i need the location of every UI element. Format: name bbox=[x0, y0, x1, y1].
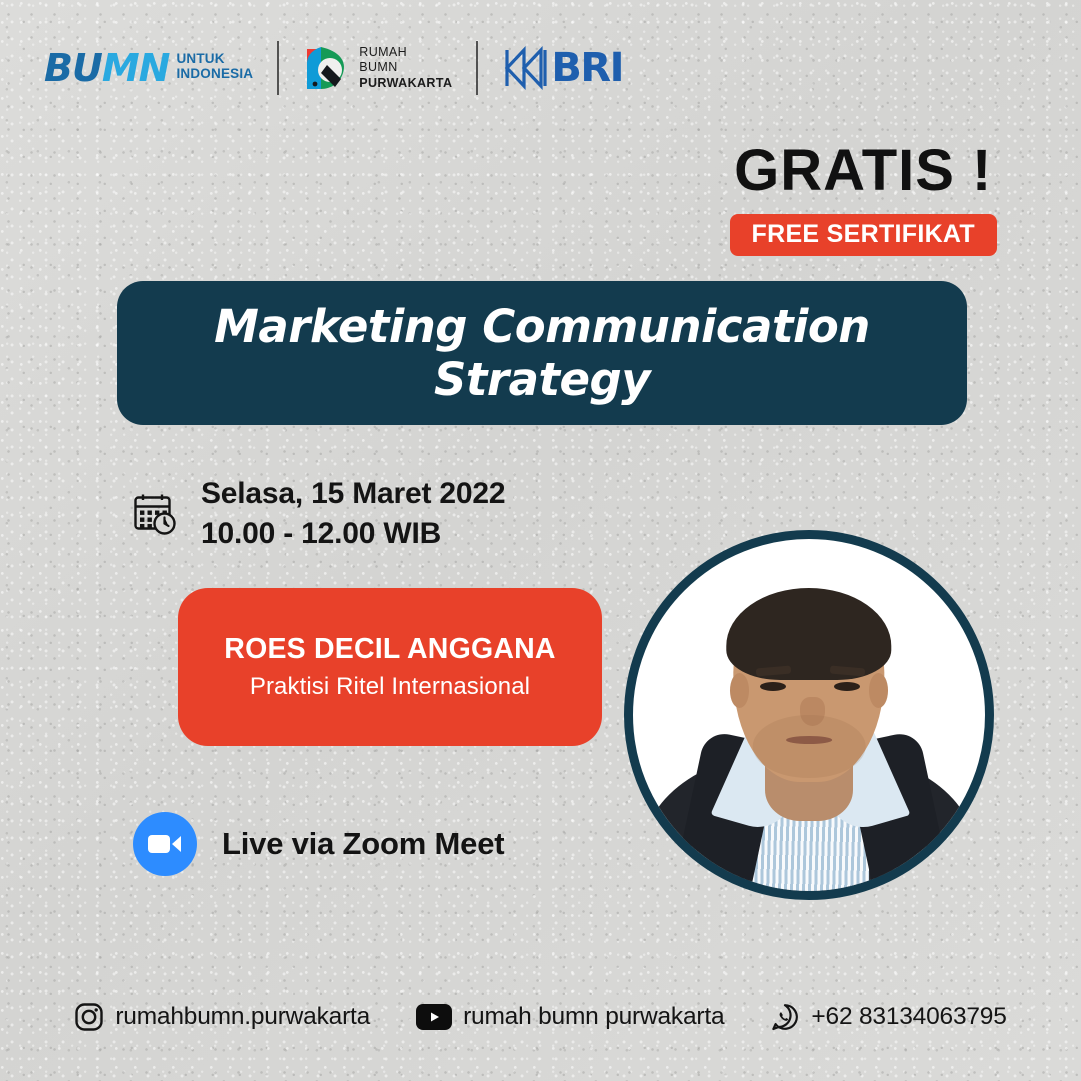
speaker-photo bbox=[624, 530, 994, 900]
schedule-row: Selasa, 15 Maret 2022 10.00 - 12.00 WIB bbox=[131, 474, 505, 553]
zoom-video-icon bbox=[133, 812, 197, 876]
rumah-bumn-text: RUMAH BUMN PURWAKARTA bbox=[359, 45, 452, 91]
event-poster: BUMN UNTUK INDONESIA RUMAH BUMN PURWAKAR… bbox=[0, 0, 1081, 1081]
partner-logo-bar: BUMN UNTUK INDONESIA RUMAH BUMN PURWAKAR… bbox=[44, 38, 623, 98]
calendar-clock-icon bbox=[131, 490, 179, 538]
bumn-untuk-indonesia-logo: BUMN UNTUK INDONESIA bbox=[44, 49, 253, 88]
bri-logo: BRI bbox=[502, 46, 623, 90]
instagram-icon bbox=[74, 1002, 104, 1032]
footer-youtube[interactable]: rumah bumn purwakarta bbox=[416, 1003, 724, 1031]
free-promo-block: GRATIS ! FREE SERTIFIKAT bbox=[730, 142, 997, 256]
event-title-banner: Marketing Communication Strategy bbox=[117, 281, 967, 425]
bumn-tagline: UNTUK INDONESIA bbox=[176, 52, 253, 83]
portrait-illustration bbox=[633, 539, 985, 891]
bumn-wordmark-part1: BU bbox=[44, 46, 102, 90]
logo-divider-2 bbox=[476, 41, 478, 95]
whatsapp-icon bbox=[770, 1002, 800, 1032]
portrait-ear-left bbox=[730, 673, 749, 708]
rumah-bumn-mark-icon bbox=[303, 43, 349, 93]
speaker-name: ROES DECIL ANGGANA bbox=[224, 632, 555, 666]
free-certificate-badge: FREE SERTIFIKAT bbox=[730, 214, 997, 256]
instagram-handle: rumahbumn.purwakarta bbox=[115, 1003, 370, 1031]
gratis-heading: GRATIS ! bbox=[730, 142, 997, 200]
youtube-handle: rumah bumn purwakarta bbox=[463, 1003, 724, 1031]
portrait-mouth bbox=[786, 736, 832, 744]
bumn-tagline-line1: UNTUK bbox=[176, 51, 224, 66]
footer-instagram[interactable]: rumahbumn.purwakarta bbox=[74, 1002, 370, 1032]
event-title: Marketing Communication Strategy bbox=[117, 300, 967, 406]
portrait-eye-right bbox=[834, 682, 860, 691]
rumah-bumn-logo: RUMAH BUMN PURWAKARTA bbox=[303, 43, 452, 93]
footer-social-bar: rumahbumn.purwakarta rumah bumn purwakar… bbox=[0, 1002, 1081, 1032]
bumn-tagline-line2: INDONESIA bbox=[176, 66, 253, 81]
speaker-info-box: ROES DECIL ANGGANA Praktisi Ritel Intern… bbox=[178, 588, 602, 746]
play-triangle-icon bbox=[428, 1010, 441, 1024]
youtube-icon bbox=[416, 1004, 452, 1030]
platform-label: Live via Zoom Meet bbox=[222, 826, 504, 862]
event-date: Selasa, 15 Maret 2022 bbox=[201, 474, 505, 514]
portrait-cheek-shadow bbox=[753, 715, 866, 778]
rumah-bumn-line2: BUMN bbox=[359, 60, 397, 74]
rumah-bumn-line1: RUMAH bbox=[359, 45, 407, 59]
rumah-bumn-line3: PURWAKARTA bbox=[359, 76, 452, 90]
portrait-hair bbox=[726, 588, 891, 680]
portrait-ear-right bbox=[869, 673, 888, 708]
portrait-eye-left bbox=[760, 682, 786, 691]
video-camera-glyph-icon bbox=[147, 832, 183, 856]
bumn-wordmark: BUMN bbox=[44, 49, 169, 88]
whatsapp-number: +62 83134063795 bbox=[811, 1003, 1006, 1031]
logo-divider-1 bbox=[277, 41, 279, 95]
platform-row: Live via Zoom Meet bbox=[133, 812, 504, 876]
footer-whatsapp[interactable]: +62 83134063795 bbox=[770, 1002, 1006, 1032]
schedule-text: Selasa, 15 Maret 2022 10.00 - 12.00 WIB bbox=[201, 474, 505, 553]
event-time: 10.00 - 12.00 WIB bbox=[201, 514, 505, 554]
bri-mark-icon bbox=[502, 46, 550, 90]
bumn-wordmark-part2: MN bbox=[102, 46, 170, 90]
bri-wordmark: BRI bbox=[551, 48, 623, 88]
speaker-role: Praktisi Ritel Internasional bbox=[250, 671, 530, 702]
